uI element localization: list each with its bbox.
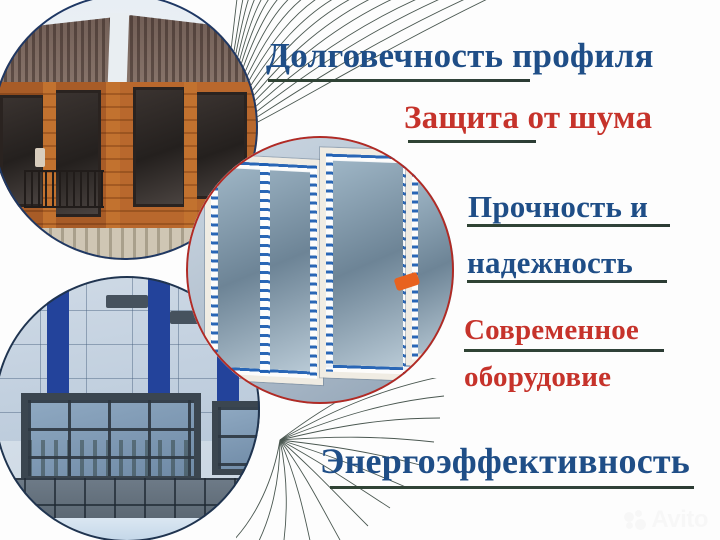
headline-line-5: Современное: [464, 314, 639, 347]
photo-veka-artwork: [186, 136, 454, 404]
headline-line-7: Энергоэффективность: [320, 440, 690, 482]
headline-line-6: оборудовие: [464, 361, 611, 394]
headline-line-4: надежность: [467, 245, 633, 281]
photo-veka-windows: [186, 136, 454, 404]
avito-logo-icon: [624, 510, 646, 530]
headline-line-1: Долговечность профиля: [266, 36, 654, 76]
avito-wordmark: Avito: [651, 508, 708, 532]
headline-rule-3: [467, 224, 670, 227]
headline-rule-7: [330, 486, 694, 489]
headline-rule-2: [408, 140, 536, 143]
headline-rule-5: [464, 349, 664, 352]
headline-line-2: Защита от шума: [404, 100, 652, 137]
headline-line-3: Прочность и: [468, 189, 648, 225]
headline-rule-4: [467, 280, 667, 283]
ad-banner: Долговечность профиля Защита от шума Про…: [0, 0, 720, 540]
headline-rule-1: [268, 79, 530, 82]
avito-watermark: Avito: [624, 508, 708, 532]
